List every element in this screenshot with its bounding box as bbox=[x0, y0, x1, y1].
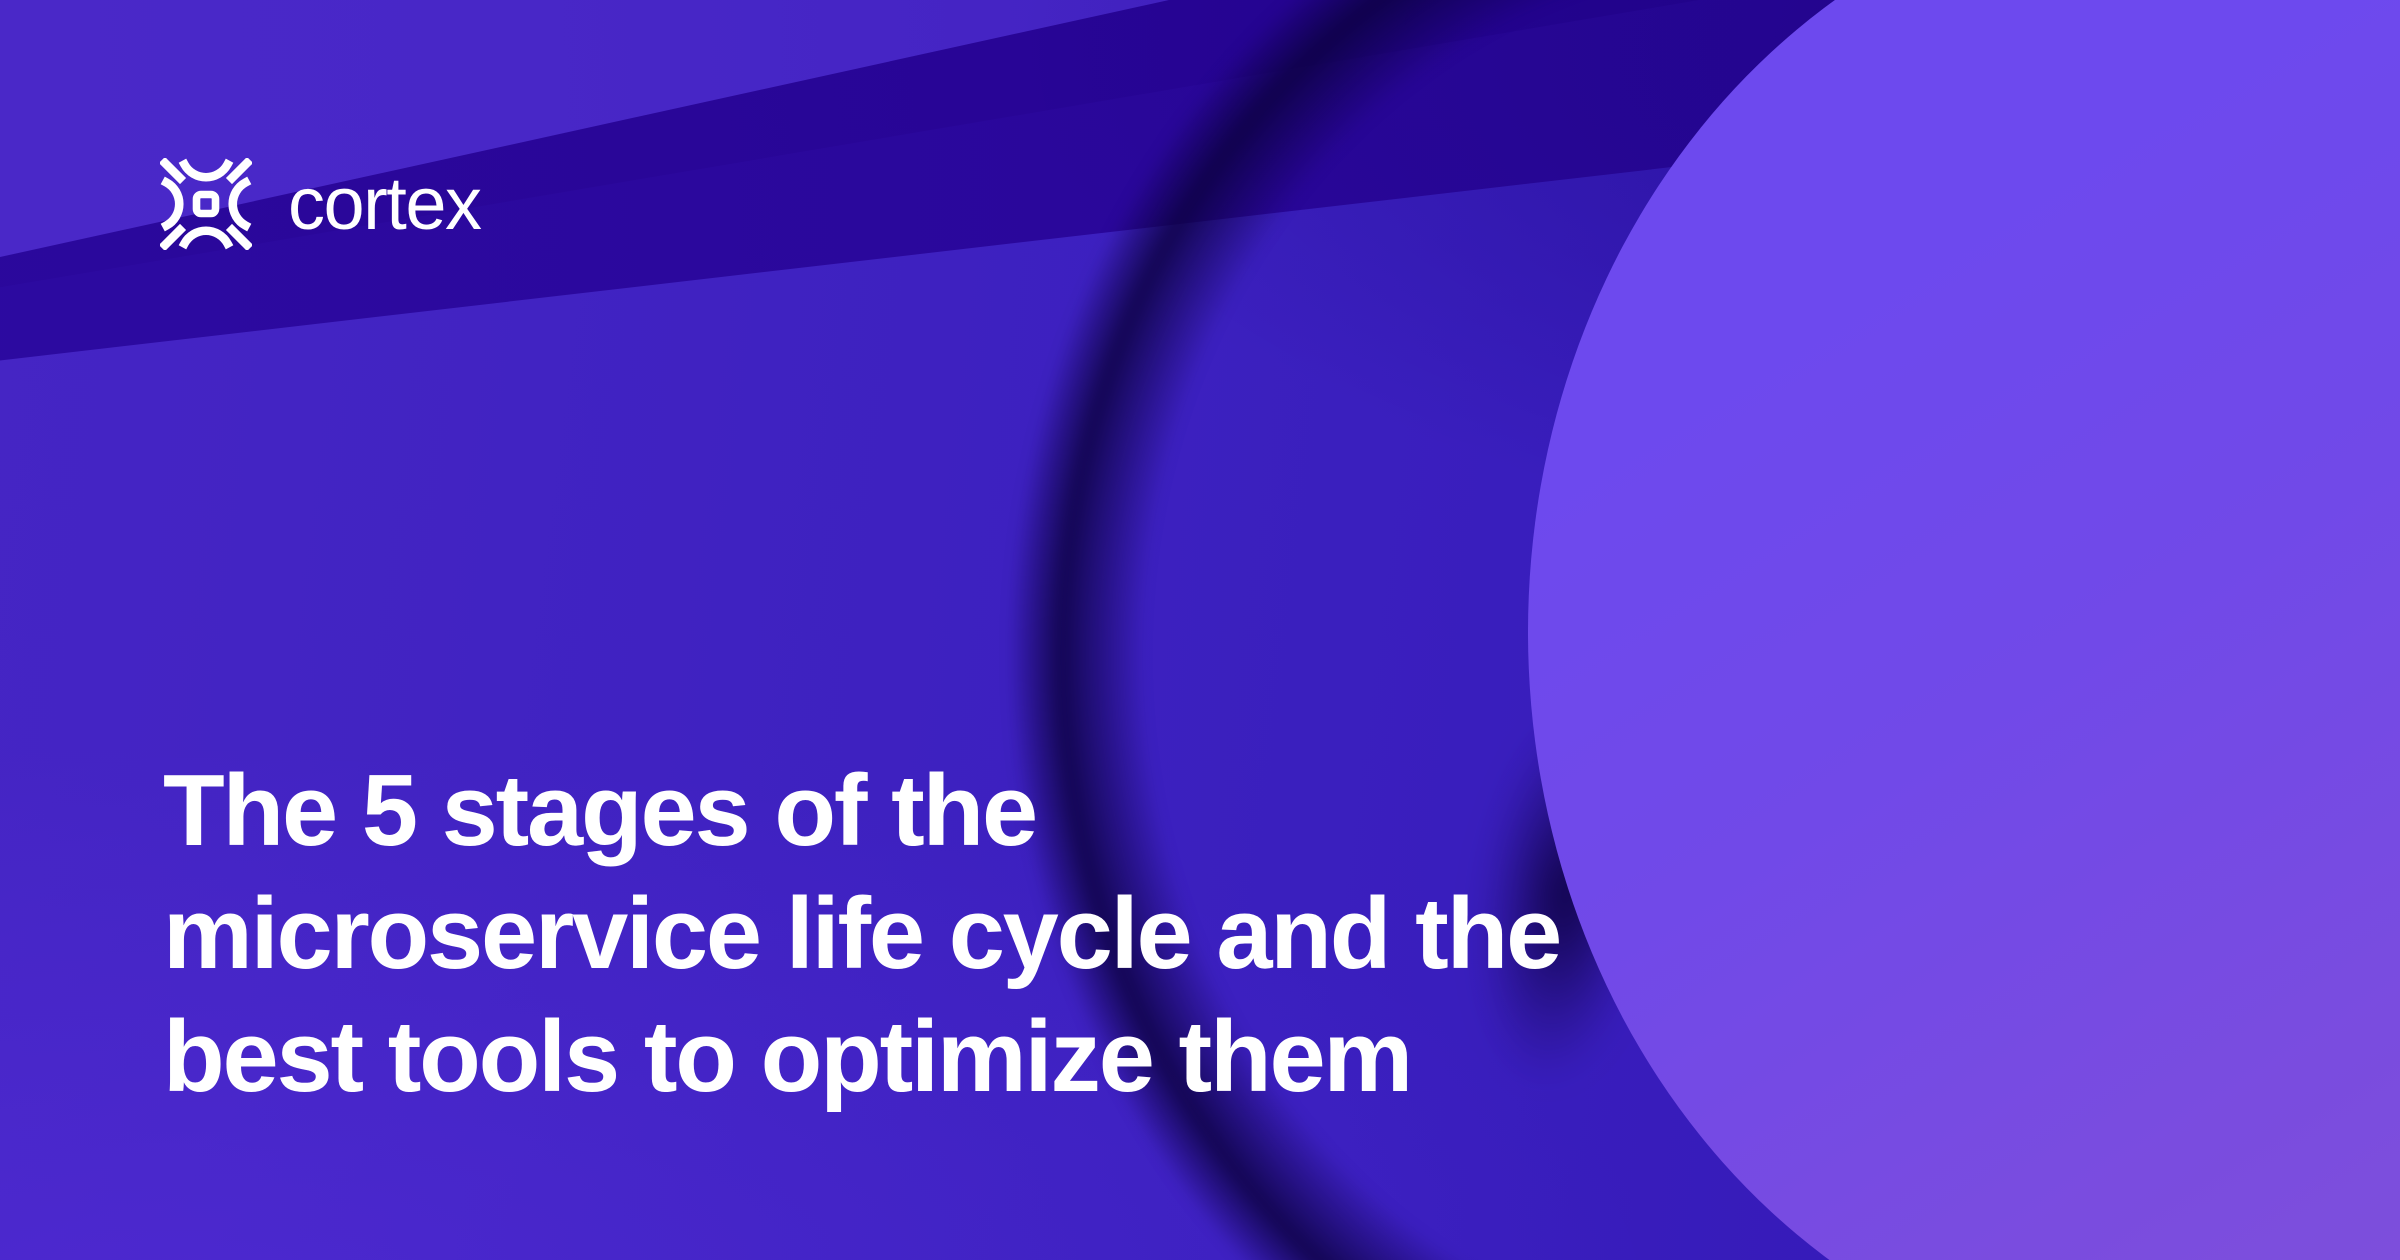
cortex-mark-icon bbox=[160, 158, 252, 250]
headline-line-3: best tools to optimize them bbox=[163, 996, 1663, 1119]
brand-logo[interactable]: cortex bbox=[160, 158, 481, 250]
headline-line-1: The 5 stages of the bbox=[163, 750, 1663, 873]
brand-wordmark: cortex bbox=[288, 174, 481, 233]
headline-line-2: microservice life cycle and the bbox=[163, 873, 1663, 996]
page-title: The 5 stages of the microservice life cy… bbox=[163, 750, 1663, 1119]
social-card-canvas: cortex The 5 stages of the microservice … bbox=[0, 0, 2400, 1260]
